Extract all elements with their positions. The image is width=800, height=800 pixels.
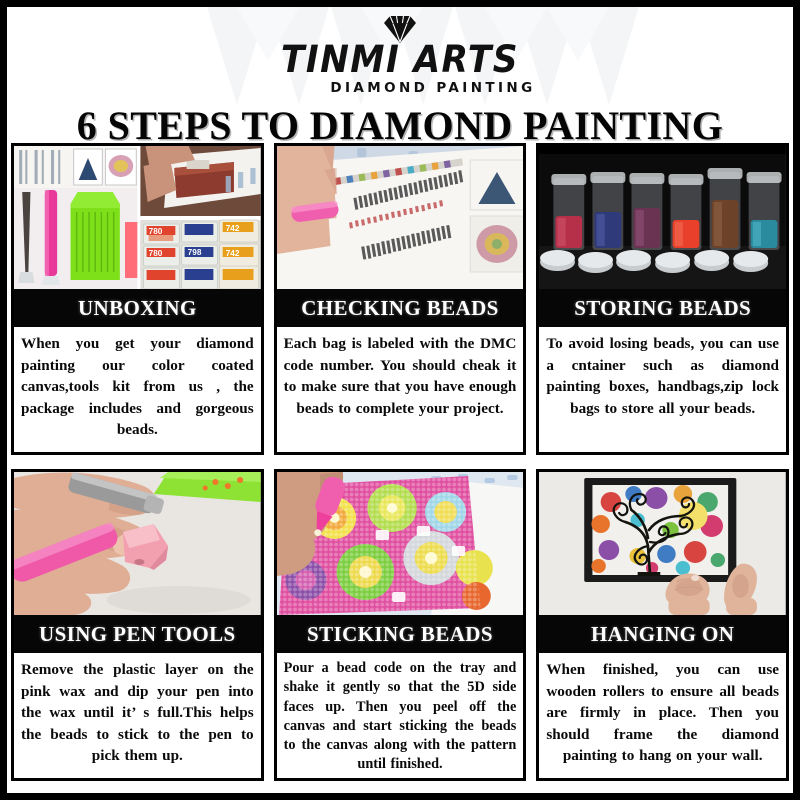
photo-hand-checking-chart [277,146,524,289]
step-text-unboxing: When you get your diamond painting our c… [14,327,261,452]
photo-hand-placing-beads-on-canvas [277,472,524,615]
photo-framed-tree-of-life-on-wall [539,472,786,615]
brand-subtitle: DIAMOND PAINTING [7,80,793,96]
header: TINMI ARTS DIAMOND PAINTING 6 STEPS TO D… [7,7,793,143]
infographic-page: TINMI ARTS DIAMOND PAINTING 6 STEPS TO D… [0,0,800,800]
photo-bead-storage-vials [539,146,786,289]
svg-text:742: 742 [226,224,240,233]
svg-text:798: 798 [188,248,202,257]
photo-hand-pen-wax [14,472,261,615]
step-label-using-pen-tools: USING PEN TOOLS [14,615,261,653]
step-label-unboxing: UNBOXING [14,289,261,327]
brand-logo: TINMI ARTS DIAMOND PAINTING [7,7,793,96]
svg-text:780: 780 [149,227,163,236]
step-text-sticking-beads: Pour a bead code on the tray and shake i… [277,653,524,779]
step-text-checking-beads: Each bag is labeled with the DMC code nu… [277,327,524,452]
svg-text:780: 780 [149,249,163,258]
step-label-checking-beads: CHECKING BEADS [277,289,524,327]
step-card-storing-beads: STORING BEADS To avoid losing beads, you… [536,143,789,455]
step-label-sticking-beads: STICKING BEADS [277,615,524,653]
page-title: 6 STEPS TO DIAMOND PAINTING [7,102,793,143]
step-text-storing-beads: To avoid losing beads, you can use a cnt… [539,327,786,452]
brand-name: TINMI ARTS [35,41,766,79]
step-text-using-pen-tools: Remove the plastic layer on the pink wax… [14,653,261,778]
step-card-checking-beads: CHECKING BEADS Each bag is labeled with … [274,143,527,455]
step-text-hanging-on: When finished, you can use wooden roller… [539,653,786,778]
step-card-using-pen-tools: USING PEN TOOLS Remove the plastic layer… [11,469,264,781]
step-card-unboxing: 780 742 780 [11,143,264,455]
step-card-sticking-beads: STICKING BEADS Pour a bead code on the t… [274,469,527,781]
photo-kit-contents-collage: 780 742 780 [14,146,261,289]
step-label-storing-beads: STORING BEADS [539,289,786,327]
steps-grid: 780 742 780 [7,143,793,785]
svg-text:742: 742 [226,249,240,258]
step-card-hanging-on: HANGING ON When finished, you can use wo… [536,469,789,781]
step-label-hanging-on: HANGING ON [539,615,786,653]
